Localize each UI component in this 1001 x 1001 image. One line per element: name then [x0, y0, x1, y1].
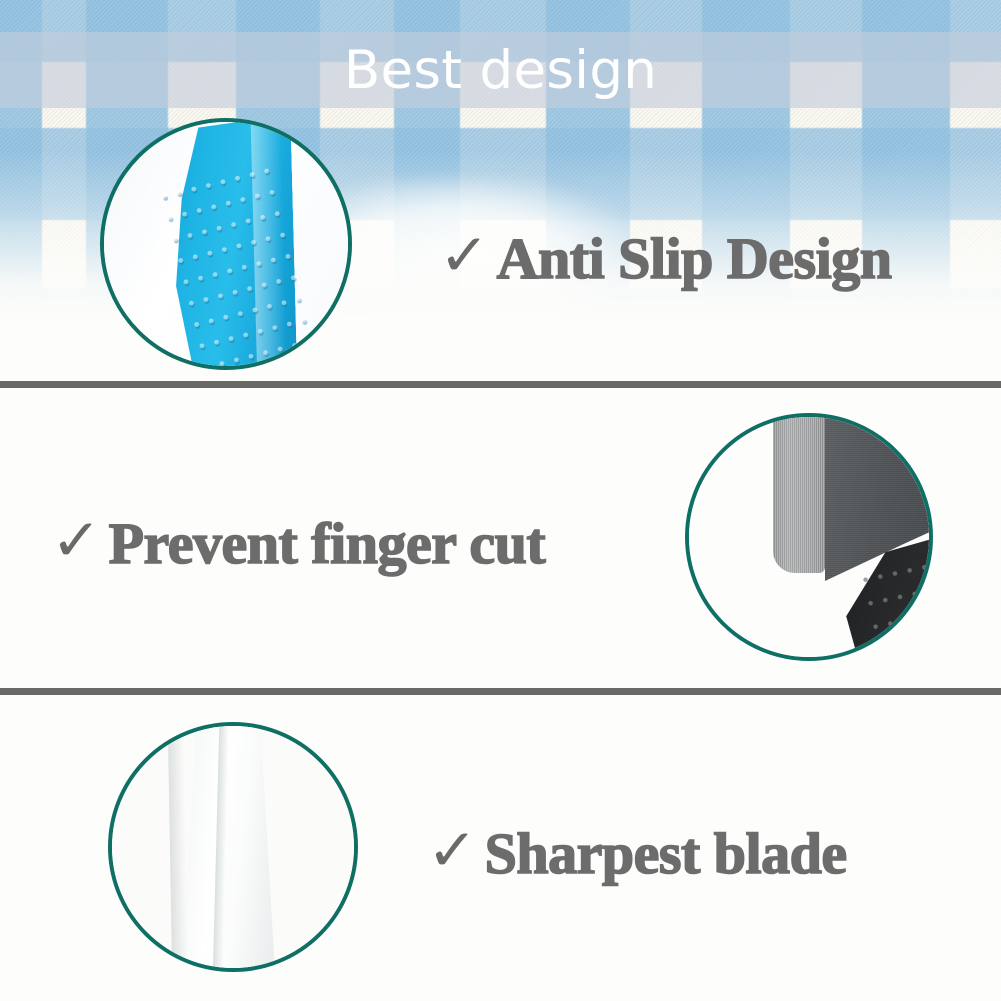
- product-feature-infographic: Best design ✓ Anti Slip Design ✓ Prevent…: [0, 0, 1001, 1001]
- lens-photo-sharp-blade: [112, 726, 354, 968]
- lens-anti-slip-design: [100, 118, 352, 370]
- lens-photo-anti-slip: [104, 122, 348, 366]
- checkmark-icon: ✓: [439, 226, 490, 284]
- lens-prevent-finger-cut: [685, 413, 933, 661]
- page-title: Best design: [344, 44, 657, 97]
- feature-label-prevent-finger-cut: Prevent finger cut: [109, 515, 546, 573]
- divider-top: [0, 381, 1001, 388]
- checkmark-icon: ✓: [51, 511, 102, 569]
- checkmark-icon: ✓: [427, 821, 478, 879]
- feature-prevent-finger-cut: ✓ Prevent finger cut: [52, 515, 545, 573]
- feature-label-anti-slip-design: Anti Slip Design: [497, 230, 892, 288]
- lens-photo-blade-tip: [689, 417, 929, 657]
- feature-label-sharpest-blade: Sharpest blade: [485, 825, 847, 883]
- header-title-band: Best design: [0, 32, 1001, 108]
- divider-bottom: [0, 688, 1001, 695]
- feature-anti-slip-design: ✓ Anti Slip Design: [440, 230, 892, 288]
- feature-sharpest-blade: ✓ Sharpest blade: [428, 825, 847, 883]
- blade-tip-striations: [773, 413, 825, 573]
- lens-sharpest-blade: [108, 722, 358, 972]
